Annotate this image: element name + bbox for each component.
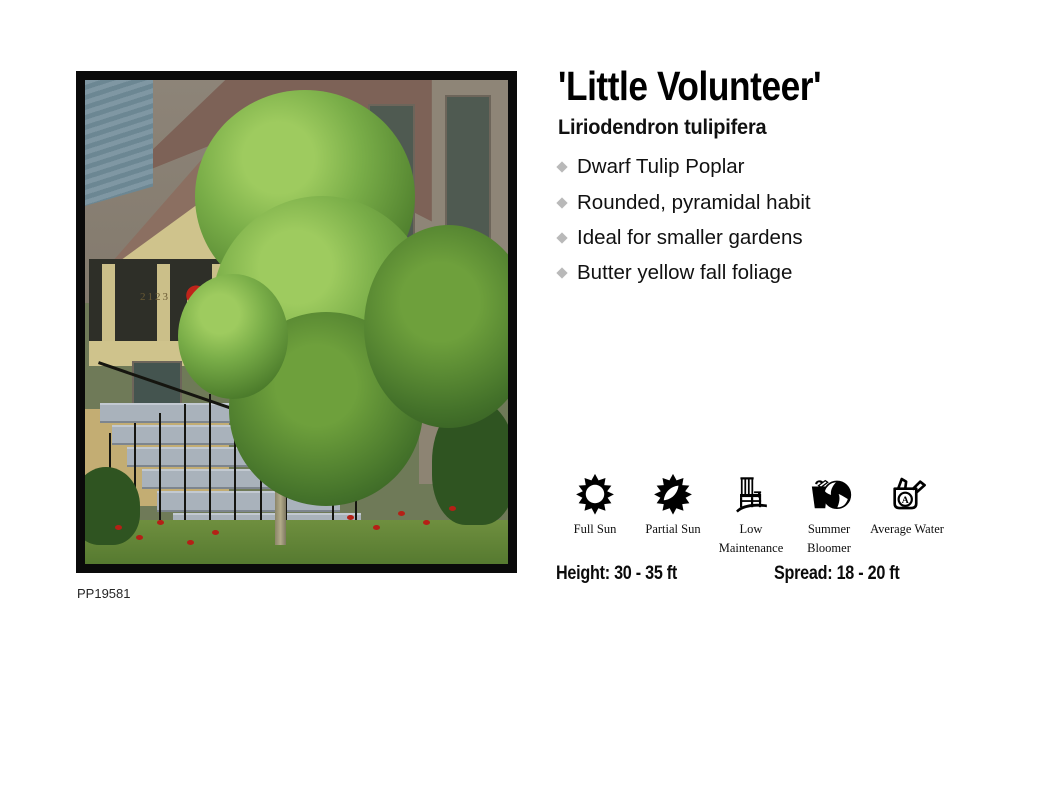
feature-text: Rounded, pyramidal habit bbox=[577, 185, 811, 220]
diamond-bullet-icon bbox=[556, 232, 567, 243]
feature-text: Ideal for smaller gardens bbox=[577, 220, 803, 255]
plant-photograph: 2123 bbox=[85, 80, 508, 564]
spread-value: Spread: 18 - 20 ft bbox=[774, 563, 900, 585]
plant-patent-number: PP19581 bbox=[77, 586, 131, 601]
photo-porch-column bbox=[102, 264, 116, 346]
culture-icon-label: Partial Sun bbox=[634, 522, 712, 537]
rocking-chair-icon bbox=[712, 470, 790, 518]
feature-list: Dwarf Tulip Poplar Rounded, pyramidal ha… bbox=[558, 149, 1028, 290]
photo-house-number: 2123 bbox=[140, 291, 170, 303]
diamond-bullet-icon bbox=[556, 162, 567, 173]
watering-can-icon: A bbox=[868, 470, 946, 518]
photo-tree-canopy bbox=[178, 274, 288, 400]
culture-icon-label-2: Bloomer bbox=[790, 541, 868, 556]
list-item: Rounded, pyramidal habit bbox=[558, 185, 1028, 220]
photo-lawn bbox=[85, 520, 508, 564]
culture-icon-partial-sun: Partial Sun bbox=[634, 470, 712, 537]
culture-icon-summer-bloomer: Summer Bloomer bbox=[790, 470, 868, 556]
photo-blue-siding bbox=[85, 80, 153, 206]
botanical-name: Liriodendron tulipifera bbox=[558, 116, 1005, 140]
list-item: Dwarf Tulip Poplar bbox=[558, 149, 1028, 184]
photo-porch-column bbox=[157, 264, 171, 346]
list-item: Ideal for smaller gardens bbox=[558, 220, 1028, 255]
culture-icon-strip: Full Sun Partial Sun bbox=[556, 470, 968, 556]
plant-photo-panel: 2123 bbox=[76, 71, 517, 573]
culture-icon-label: Full Sun bbox=[556, 522, 634, 537]
culture-icon-low-maintenance: Low Maintenance bbox=[712, 470, 790, 556]
feature-text: Dwarf Tulip Poplar bbox=[577, 149, 744, 184]
plant-info-panel: 'Little Volunteer' Liriodendron tulipife… bbox=[558, 64, 1028, 290]
svg-text:A: A bbox=[902, 495, 909, 506]
culture-icon-average-water: A Average Water bbox=[868, 470, 946, 537]
full-sun-icon bbox=[556, 470, 634, 518]
photo-black-frame: 2123 bbox=[76, 71, 517, 573]
culture-icon-label: Low bbox=[712, 522, 790, 537]
culture-icon-label-2: Maintenance bbox=[712, 541, 790, 556]
list-item: Butter yellow fall foliage bbox=[558, 255, 1028, 290]
feature-text: Butter yellow fall foliage bbox=[577, 255, 792, 290]
beach-ball-icon bbox=[790, 470, 868, 518]
partial-sun-icon bbox=[634, 470, 712, 518]
page-title: 'Little Volunteer' bbox=[558, 64, 962, 108]
diamond-bullet-icon bbox=[556, 267, 567, 278]
culture-icon-label: Average Water bbox=[868, 522, 946, 537]
height-value: Height: 30 - 35 ft bbox=[556, 563, 677, 585]
culture-icon-label: Summer bbox=[790, 522, 868, 537]
culture-icon-full-sun: Full Sun bbox=[556, 470, 634, 537]
diamond-bullet-icon bbox=[556, 197, 567, 208]
